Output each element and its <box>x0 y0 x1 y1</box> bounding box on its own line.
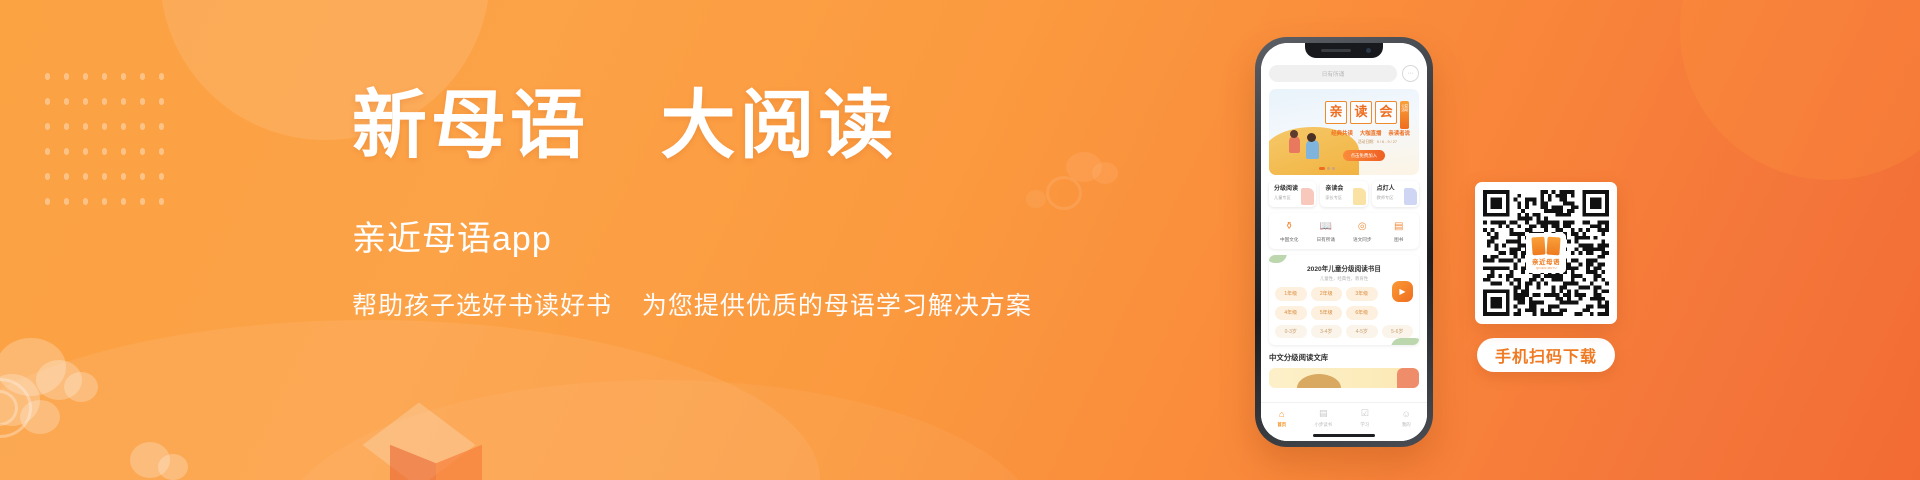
home-indicator <box>1313 434 1375 437</box>
quick-entry-chinese-culture[interactable]: ⚱ 中国文化 <box>1271 219 1308 243</box>
promo-title-char: 读 <box>1350 101 1372 124</box>
promo-features: 经典共读 大咖直播 亲读者说 <box>1331 129 1410 137</box>
age-tag[interactable]: 5-6岁 <box>1382 325 1414 339</box>
app-home-screen: 日有所诵 ⋯ 亲 读 会 公益活动 经典共读 <box>1261 43 1427 441</box>
illustration-child-1-head <box>1290 130 1298 138</box>
home-icon: ⌂ <box>1275 407 1288 420</box>
grade-tag[interactable]: 5年级 <box>1311 306 1343 320</box>
age-tag[interactable]: 0-3岁 <box>1275 325 1307 339</box>
quick-entry-label: 中国文化 <box>1271 237 1308 243</box>
decor-cube <box>384 410 482 480</box>
grade-tag[interactable]: 4年级 <box>1275 306 1307 320</box>
search-bar: 日有所诵 ⋯ <box>1269 65 1419 82</box>
brand-logo-sub: QINJIN MUYU <box>1536 266 1557 270</box>
promo-feature: 亲读者说 <box>1388 129 1410 137</box>
decor-cloud-right <box>1020 150 1140 230</box>
decor-block <box>1397 368 1419 388</box>
quick-entry-daily-recite[interactable]: 📖 日有所诵 <box>1308 219 1345 243</box>
promo-card[interactable]: 亲 读 会 公益活动 经典共读 大咖直播 亲读者说 活动日期：9 / 6 - 9… <box>1269 89 1419 175</box>
category-cards: 分级阅读 儿童专区 亲读会 家长专区 点灯人 教师专区 <box>1269 181 1419 207</box>
grade-tag[interactable]: 1年级 <box>1275 287 1307 301</box>
message-icon[interactable]: ⋯ <box>1402 65 1419 82</box>
book-shape-icon <box>1404 188 1417 205</box>
decor-leaf <box>1269 255 1287 263</box>
tab-study[interactable]: ☑ 学习 <box>1344 407 1386 428</box>
grade-row-2: 4年级 5年级 6年级 <box>1275 306 1413 320</box>
illustration-child-1 <box>1289 136 1300 153</box>
quick-entry-label: 日有所诵 <box>1308 237 1345 243</box>
book-shape-icon <box>1301 188 1314 205</box>
quick-entry-sync[interactable]: ◎ 语文同步 <box>1344 219 1381 243</box>
brand-logo: 亲近母语 QINJIN MUYU <box>1526 233 1566 273</box>
qr-code[interactable]: 亲近母语 QINJIN MUYU <box>1475 182 1617 324</box>
quick-entry-label: 图书 <box>1381 237 1418 243</box>
book-open-icon: 📖 <box>1318 219 1333 234</box>
video-play-icon[interactable]: ▶ <box>1392 281 1413 302</box>
carousel-dots[interactable] <box>1319 167 1335 170</box>
decor-leaf <box>1391 338 1419 345</box>
tab-label: 首页 <box>1261 422 1303 428</box>
brand-logo-title: 亲近母语 <box>1532 256 1560 266</box>
booklist-title: 2020年儿童分级阅读书目 <box>1275 263 1413 273</box>
decor-arc <box>1297 374 1341 388</box>
decor-cloud-left-small <box>120 424 240 480</box>
quick-entry-label: 语文同步 <box>1344 237 1381 243</box>
grade-tag[interactable]: 3年级 <box>1346 287 1378 301</box>
decor-dot-grid <box>36 62 171 212</box>
promo-banner: 新母语 大阅读 亲近母语app 帮助孩子选好书读好书 为您提供优质的母语学习解决… <box>0 0 1920 480</box>
carousel-dot[interactable] <box>1319 167 1325 170</box>
promo-feature: 大咖直播 <box>1360 129 1382 137</box>
books-icon: ▤ <box>1391 219 1406 234</box>
tab-reading[interactable]: ▤ 小步读书 <box>1303 407 1345 428</box>
booklist-subtitle: 儿童性，经典性，教育性 <box>1275 276 1413 282</box>
tab-home[interactable]: ⌂ 首页 <box>1261 407 1303 428</box>
speaker-icon <box>1321 49 1351 52</box>
illustration-child-2 <box>1306 140 1319 159</box>
carousel-dot[interactable] <box>1327 167 1330 170</box>
search-input[interactable]: 日有所诵 <box>1269 65 1397 82</box>
tab-label: 小步读书 <box>1303 422 1345 428</box>
age-tag[interactable]: 3-4岁 <box>1311 325 1343 339</box>
reading-icon: ▤ <box>1317 407 1330 420</box>
tab-label: 我的 <box>1386 422 1428 428</box>
promo-title-char: 亲 <box>1325 101 1347 124</box>
quick-entry-row: ⚱ 中国文化 📖 日有所诵 ◎ 语文同步 ▤ 图书 <box>1269 213 1419 249</box>
sync-icon: ◎ <box>1355 219 1370 234</box>
promo-title: 亲 读 会 公益活动 <box>1325 101 1409 129</box>
download-button[interactable]: 手机扫码下载 <box>1477 338 1615 372</box>
tab-label: 学习 <box>1344 422 1386 428</box>
tagline-part-b: 为您提供优质的母语学习解决方案 <box>642 292 1032 320</box>
promo-ribbon: 公益活动 <box>1400 101 1409 129</box>
promo-join-button[interactable]: 点击免费加入 <box>1343 150 1385 161</box>
book-shape-icon <box>1353 188 1366 205</box>
headline-part-a: 新母语 <box>352 85 589 168</box>
hero-copy: 新母语 大阅读 亲近母语app 帮助孩子选好书读好书 为您提供优质的母语学习解决… <box>352 86 1012 322</box>
page-title: 新母语 大阅读 <box>352 86 1012 167</box>
vase-icon: ⚱ <box>1282 219 1297 234</box>
camera-icon <box>1366 48 1371 53</box>
grade-tag[interactable]: 2年级 <box>1311 287 1343 301</box>
decor-circle-top-right <box>1680 0 1920 180</box>
book-logo-icon <box>1532 237 1560 255</box>
phone-mockup: 日有所诵 ⋯ 亲 读 会 公益活动 经典共读 <box>1255 37 1433 447</box>
tagline-part-a: 帮助孩子选好书读好书 <box>352 292 612 320</box>
grade-tag[interactable]: 6年级 <box>1346 306 1378 320</box>
profile-icon: ☺ <box>1400 407 1413 420</box>
promo-title-char: 会 <box>1375 101 1397 124</box>
hero-tagline: 帮助孩子选好书读好书 为您提供优质的母语学习解决方案 <box>352 286 1012 322</box>
age-tag[interactable]: 4-5岁 <box>1346 325 1378 339</box>
category-card-parent-club[interactable]: 亲读会 家长专区 <box>1320 181 1367 207</box>
grade-row-spacer <box>1382 306 1414 320</box>
booklist-card: 2020年儿童分级阅读书目 儿童性，经典性，教育性 1年级 2年级 3年级 4年… <box>1269 255 1419 345</box>
carousel-dot[interactable] <box>1332 167 1335 170</box>
study-icon: ☑ <box>1358 407 1371 420</box>
illustration-child-2-head <box>1307 133 1316 142</box>
app-name: 亲近母语app <box>352 211 1012 260</box>
promo-feature: 经典共读 <box>1331 129 1353 137</box>
phone-notch <box>1305 43 1383 58</box>
category-card-teacher[interactable]: 点灯人 教师专区 <box>1372 181 1419 207</box>
qr-download-group: 亲近母语 QINJIN MUYU 手机扫码下载 <box>1475 182 1617 372</box>
category-card-graded-reading[interactable]: 分级阅读 儿童专区 <box>1269 181 1316 207</box>
promo-date: 活动日期：9 / 6 - 9 / 27 <box>1358 140 1397 145</box>
phone-screen: 日有所诵 ⋯ 亲 读 会 公益活动 经典共读 <box>1261 43 1427 441</box>
quick-entry-books[interactable]: ▤ 图书 <box>1381 219 1418 243</box>
headline-part-b: 大阅读 <box>661 85 898 168</box>
tab-profile[interactable]: ☺ 我的 <box>1386 407 1428 428</box>
section-banner[interactable] <box>1269 368 1419 388</box>
section-title: 中文分级阅读文库 <box>1269 352 1419 363</box>
age-row: 0-3岁 3-4岁 4-5岁 5-6岁 <box>1275 325 1413 339</box>
